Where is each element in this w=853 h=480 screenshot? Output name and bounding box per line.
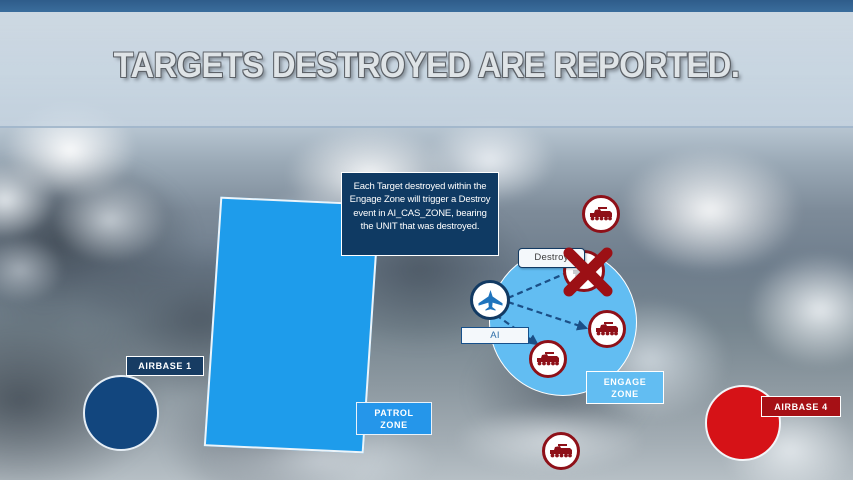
destroy-event-label-text: Destroy <box>534 252 568 264</box>
callout-box: Each Target destroyed within the Engage … <box>341 172 499 256</box>
armored-vehicle-icon[interactable] <box>529 340 567 378</box>
engage-zone-label-line1: ENGAGE <box>604 376 647 388</box>
armored-vehicle-glyph <box>588 206 614 222</box>
patrol-zone-label-line1: PATROL <box>374 407 413 419</box>
airbase-1-label[interactable]: AIRBASE 1 <box>126 356 204 376</box>
page-title: TARGETS DESTROYED ARE REPORTED. <box>30 46 823 86</box>
airbase-1-label-text: AIRBASE 1 <box>138 360 191 372</box>
fighter-jet-glyph <box>477 289 504 311</box>
ai-unit-label-text: AI <box>490 330 499 342</box>
armored-vehicle-icon[interactable] <box>588 310 626 348</box>
ai-unit-label[interactable]: AI <box>461 327 529 344</box>
engage-zone-label[interactable]: ENGAGE ZONE <box>586 371 664 404</box>
armored-vehicle-glyph <box>548 443 574 459</box>
airbase-4-label[interactable]: AIRBASE 4 <box>761 396 841 417</box>
armored-vehicle-icon[interactable] <box>542 432 580 470</box>
callout-text: Each Target destroyed within the Engage … <box>350 181 491 232</box>
destroy-event-label[interactable]: Destroy <box>518 248 585 268</box>
patrol-zone-label[interactable]: PATROL ZONE <box>356 402 432 435</box>
top-accent-strip <box>0 0 853 12</box>
arrow-to-target-right <box>508 302 586 328</box>
armored-vehicle-glyph <box>594 321 620 337</box>
fighter-jet-icon[interactable] <box>470 280 510 320</box>
slide-canvas: TARGETS DESTROYED ARE REPORTED. <box>0 0 853 480</box>
armored-vehicle-icon[interactable] <box>582 195 620 233</box>
engage-zone-label-line2: ZONE <box>611 388 638 400</box>
patrol-zone-label-line2: ZONE <box>380 419 407 431</box>
airbase-4-label-text: AIRBASE 4 <box>774 401 827 413</box>
armored-vehicle-glyph <box>535 351 561 367</box>
